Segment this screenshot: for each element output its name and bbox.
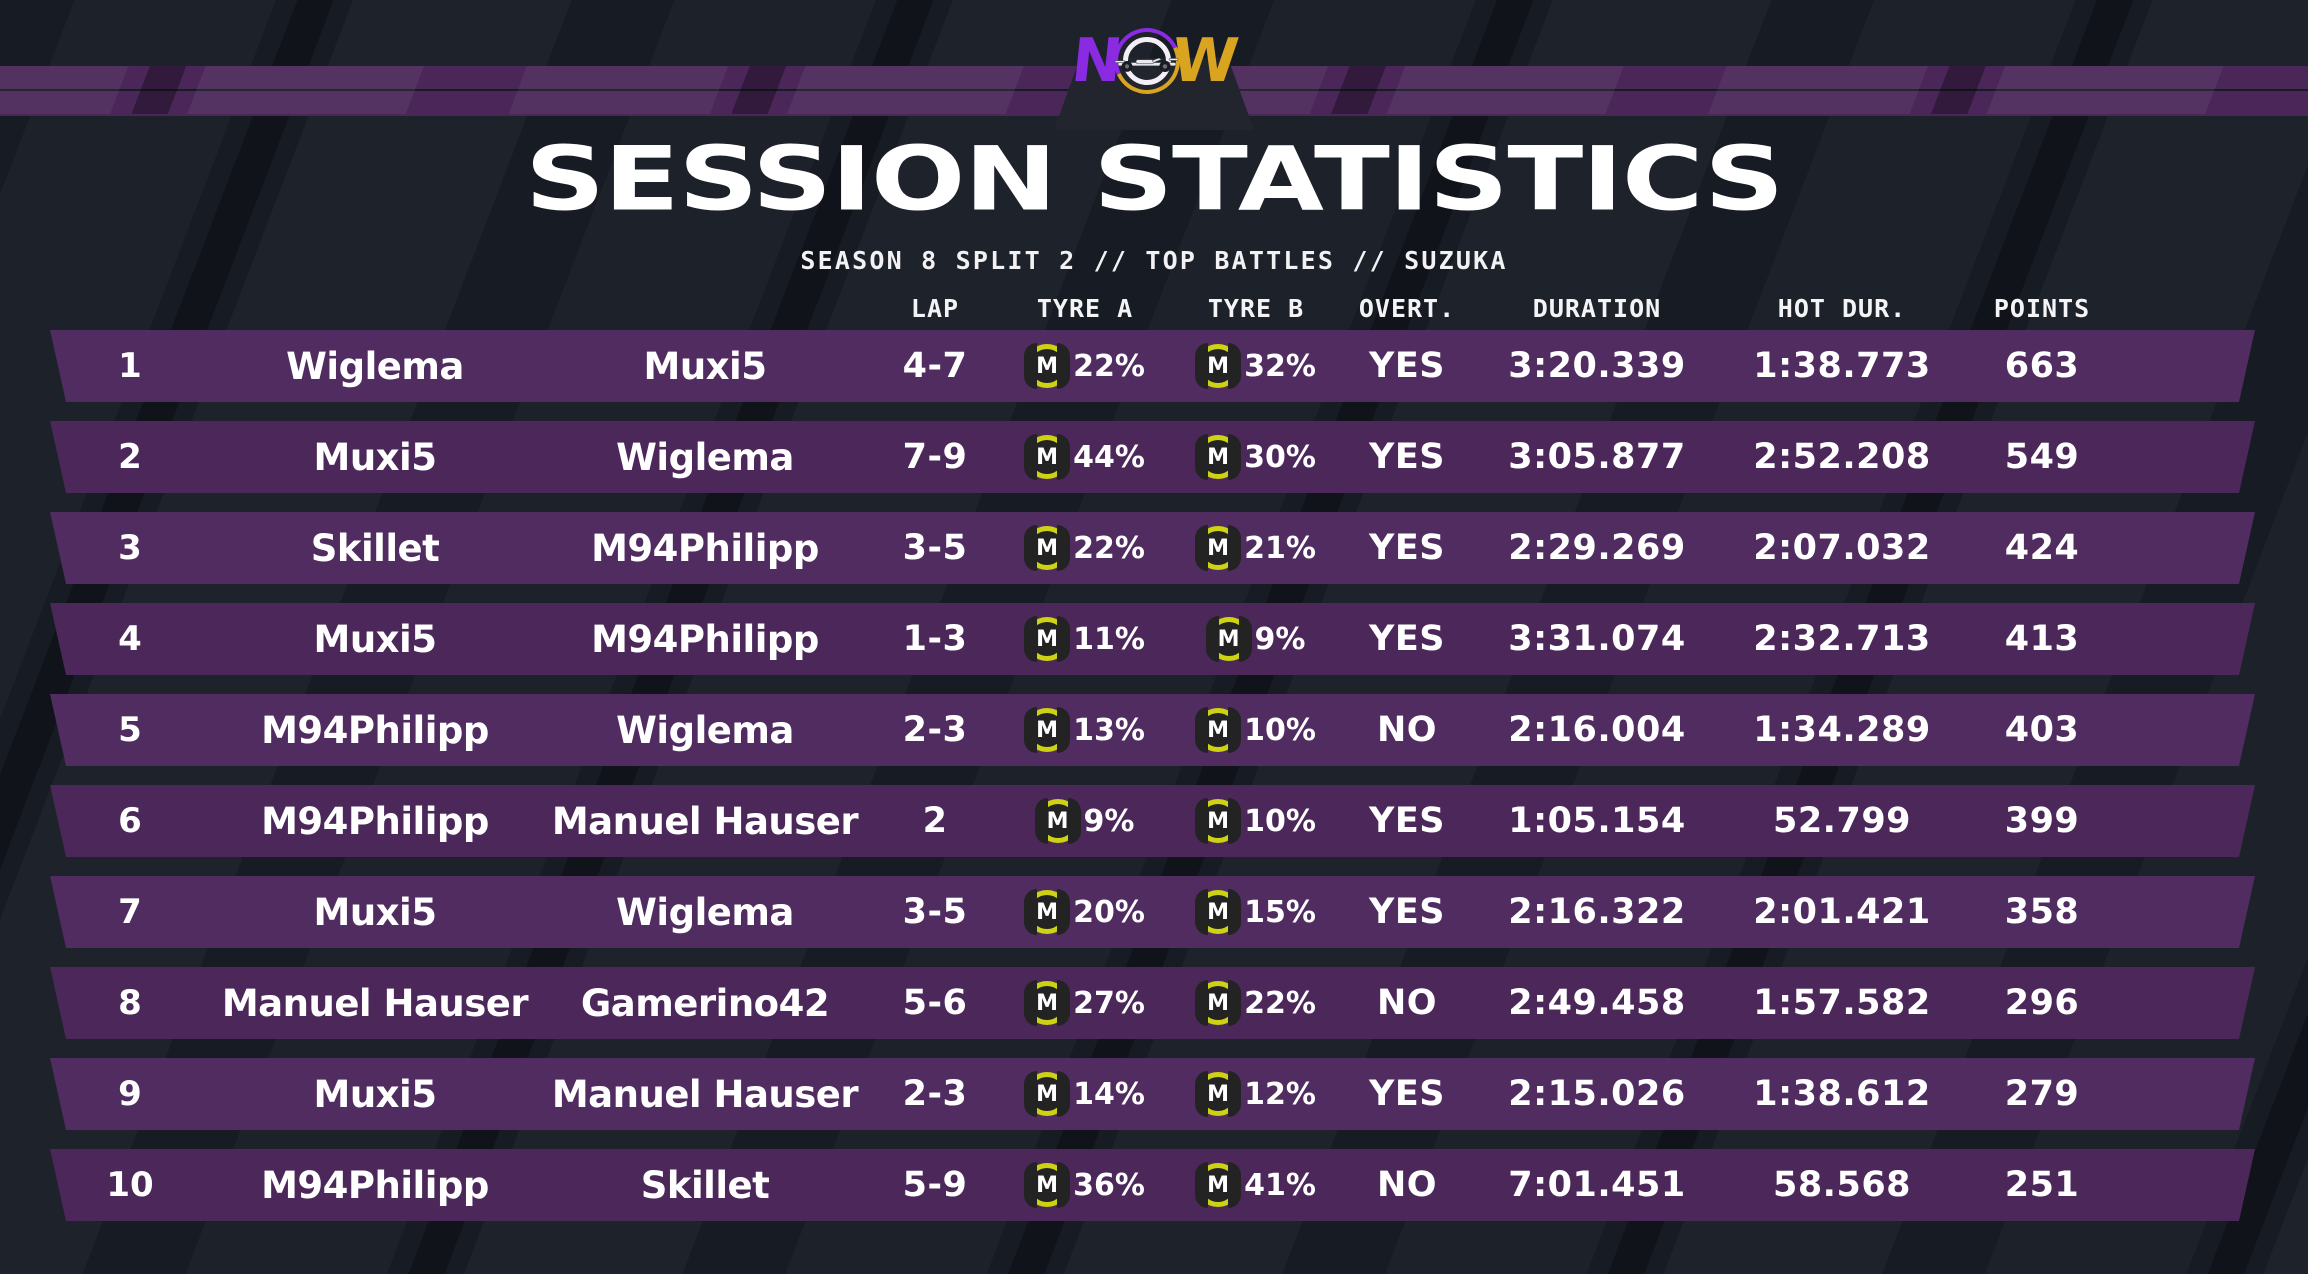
- tyre-compound-icon: M: [1025, 344, 1069, 388]
- tyre-wear-percent: 14%: [1073, 1077, 1145, 1112]
- row-overtake: YES: [1342, 801, 1472, 841]
- row-hot-duration: 1:34.289: [1722, 710, 1962, 750]
- tyre-compound-icon: M: [1025, 617, 1069, 661]
- now-logo: N: [1039, 22, 1269, 100]
- row-rank: 6: [50, 801, 210, 841]
- tyre-compound-icon: M: [1036, 799, 1080, 843]
- row-hot-duration: 2:52.208: [1722, 437, 1962, 477]
- row-overtake: YES: [1342, 892, 1472, 932]
- row-hot-duration: 2:07.032: [1722, 528, 1962, 568]
- row-lap: 3-5: [870, 528, 1000, 568]
- tyre-wear-percent: 20%: [1073, 895, 1145, 930]
- tyre-compound-letter: M: [1025, 1072, 1069, 1116]
- tyre-wear-percent: 10%: [1244, 713, 1316, 748]
- page-subtitle: SEASON 8 SPLIT 2 // TOP BATTLES // SUZUK…: [0, 246, 2308, 275]
- row-tyre-b: M 9%: [1170, 617, 1342, 661]
- table-row[interactable]: 4 Muxi5 M94Philipp 1-3 M 11% M 9% YES 3:…: [50, 603, 2255, 675]
- table-row[interactable]: 8 Manuel Hauser Gamerino42 5-6 M 27% M 2…: [50, 967, 2255, 1039]
- row-rank: 9: [50, 1074, 210, 1114]
- row-tyre-a: M 14%: [1000, 1072, 1170, 1116]
- row-overtake: YES: [1342, 1074, 1472, 1114]
- row-tyre-b: M 10%: [1170, 799, 1342, 843]
- row-lap: 2-3: [870, 1074, 1000, 1114]
- tyre-compound-letter: M: [1025, 1163, 1069, 1207]
- row-driver-b: Muxi5: [540, 345, 870, 388]
- row-driver-b: Wiglema: [540, 891, 870, 934]
- tyre-compound-icon: M: [1196, 344, 1240, 388]
- tyre-wear-percent: 9%: [1084, 804, 1135, 839]
- row-driver-a: Skillet: [210, 527, 540, 570]
- statistics-table: LAP TYRE A TYRE B OVERT. DURATION HOT DU…: [0, 286, 2308, 1240]
- table-column-headers: LAP TYRE A TYRE B OVERT. DURATION HOT DU…: [50, 286, 2255, 330]
- row-rank: 10: [50, 1165, 210, 1205]
- tyre-compound-letter: M: [1025, 981, 1069, 1025]
- tyre-compound-icon: M: [1196, 526, 1240, 570]
- row-driver-a: Manuel Hauser: [210, 982, 540, 1025]
- tyre-compound-icon: M: [1025, 435, 1069, 479]
- row-hot-duration: 1:38.773: [1722, 346, 1962, 386]
- tyre-compound-icon: M: [1025, 981, 1069, 1025]
- row-lap: 7-9: [870, 437, 1000, 477]
- row-duration: 2:15.026: [1472, 1074, 1722, 1114]
- tyre-compound-letter: M: [1196, 344, 1240, 388]
- row-lap: 2-3: [870, 710, 1000, 750]
- row-hot-duration: 58.568: [1722, 1165, 1962, 1205]
- tyre-wear-percent: 22%: [1073, 349, 1145, 384]
- table-row[interactable]: 9 Muxi5 Manuel Hauser 2-3 M 14% M 12% YE…: [50, 1058, 2255, 1130]
- row-points: 251: [1962, 1165, 2122, 1205]
- tyre-compound-letter: M: [1196, 1163, 1240, 1207]
- tyre-wear-percent: 22%: [1244, 986, 1316, 1021]
- row-points: 399: [1962, 801, 2122, 841]
- row-rank: 5: [50, 710, 210, 750]
- row-hot-duration: 52.799: [1722, 801, 1962, 841]
- tyre-wear-percent: 10%: [1244, 804, 1316, 839]
- tyre-wear-percent: 13%: [1073, 713, 1145, 748]
- row-lap: 4-7: [870, 346, 1000, 386]
- row-points: 549: [1962, 437, 2122, 477]
- tyre-compound-letter: M: [1025, 617, 1069, 661]
- table-row[interactable]: 7 Muxi5 Wiglema 3-5 M 20% M 15% YES 2:16…: [50, 876, 2255, 948]
- tyre-compound-icon: M: [1025, 1163, 1069, 1207]
- tyre-compound-icon: M: [1025, 708, 1069, 752]
- row-driver-b: M94Philipp: [540, 527, 870, 570]
- row-overtake: YES: [1342, 346, 1472, 386]
- row-lap: 2: [870, 801, 1000, 841]
- row-overtake: YES: [1342, 619, 1472, 659]
- page-title: SESSION STATISTICS: [0, 128, 2308, 231]
- row-rank: 1: [50, 346, 210, 386]
- tyre-compound-icon: M: [1196, 708, 1240, 752]
- row-tyre-a: M 20%: [1000, 890, 1170, 934]
- row-tyre-b: M 15%: [1170, 890, 1342, 934]
- row-rank: 4: [50, 619, 210, 659]
- row-points: 358: [1962, 892, 2122, 932]
- row-driver-b: Gamerino42: [540, 982, 870, 1025]
- column-header-tyre-a: TYRE A: [1000, 294, 1170, 323]
- tyre-compound-icon: M: [1196, 981, 1240, 1025]
- row-tyre-a: M 22%: [1000, 526, 1170, 570]
- tyre-compound-letter: M: [1025, 435, 1069, 479]
- row-points: 424: [1962, 528, 2122, 568]
- tyre-compound-letter: M: [1196, 799, 1240, 843]
- row-tyre-b: M 10%: [1170, 708, 1342, 752]
- tyre-wear-percent: 9%: [1255, 622, 1306, 657]
- row-overtake: NO: [1342, 1165, 1472, 1205]
- tyre-wear-percent: 15%: [1244, 895, 1316, 930]
- row-duration: 2:16.004: [1472, 710, 1722, 750]
- row-duration: 1:05.154: [1472, 801, 1722, 841]
- row-overtake: NO: [1342, 710, 1472, 750]
- table-row[interactable]: 5 M94Philipp Wiglema 2-3 M 13% M 10% NO …: [50, 694, 2255, 766]
- row-tyre-b: M 12%: [1170, 1072, 1342, 1116]
- row-overtake: NO: [1342, 983, 1472, 1023]
- row-lap: 5-9: [870, 1165, 1000, 1205]
- tyre-wear-percent: 41%: [1244, 1168, 1316, 1203]
- tyre-compound-letter: M: [1196, 981, 1240, 1025]
- table-row[interactable]: 1 Wiglema Muxi5 4-7 M 22% M 32% YES 3:20…: [50, 330, 2255, 402]
- row-driver-b: Skillet: [540, 1164, 870, 1207]
- row-hot-duration: 2:32.713: [1722, 619, 1962, 659]
- row-tyre-b: M 22%: [1170, 981, 1342, 1025]
- row-duration: 3:20.339: [1472, 346, 1722, 386]
- row-duration: 3:05.877: [1472, 437, 1722, 477]
- tyre-compound-letter: M: [1025, 344, 1069, 388]
- tyre-compound-letter: M: [1025, 526, 1069, 570]
- row-points: 663: [1962, 346, 2122, 386]
- row-hot-duration: 1:38.612: [1722, 1074, 1962, 1114]
- row-hot-duration: 2:01.421: [1722, 892, 1962, 932]
- row-tyre-a: M 11%: [1000, 617, 1170, 661]
- tyre-compound-icon: M: [1196, 1163, 1240, 1207]
- tyre-compound-letter: M: [1025, 708, 1069, 752]
- row-points: 413: [1962, 619, 2122, 659]
- tyre-wear-percent: 11%: [1073, 622, 1145, 657]
- row-driver-b: Manuel Hauser: [540, 800, 870, 843]
- row-duration: 2:29.269: [1472, 528, 1722, 568]
- tyre-compound-letter: M: [1196, 708, 1240, 752]
- row-tyre-a: M 22%: [1000, 344, 1170, 388]
- row-tyre-a: M 44%: [1000, 435, 1170, 479]
- tyre-wear-percent: 12%: [1244, 1077, 1316, 1112]
- logo-letter-w: W: [1169, 31, 1239, 91]
- row-hot-duration: 1:57.582: [1722, 983, 1962, 1023]
- row-tyre-b: M 32%: [1170, 344, 1342, 388]
- row-driver-a: M94Philipp: [210, 800, 540, 843]
- column-header-duration: DURATION: [1472, 294, 1722, 323]
- tyre-compound-icon: M: [1025, 1072, 1069, 1116]
- row-driver-a: M94Philipp: [210, 709, 540, 752]
- row-tyre-b: M 21%: [1170, 526, 1342, 570]
- column-header-points: POINTS: [1962, 294, 2122, 323]
- row-driver-b: M94Philipp: [540, 618, 870, 661]
- row-driver-a: Wiglema: [210, 345, 540, 388]
- row-points: 403: [1962, 710, 2122, 750]
- row-driver-a: Muxi5: [210, 618, 540, 661]
- row-driver-b: Wiglema: [540, 709, 870, 752]
- tyre-compound-icon: M: [1196, 1072, 1240, 1116]
- row-driver-a: Muxi5: [210, 891, 540, 934]
- row-tyre-a: M 36%: [1000, 1163, 1170, 1207]
- session-statistics-graphic: N: [0, 0, 2308, 1274]
- row-driver-b: Manuel Hauser: [540, 1073, 870, 1116]
- row-duration: 7:01.451: [1472, 1165, 1722, 1205]
- tyre-compound-letter: M: [1207, 617, 1251, 661]
- row-duration: 3:31.074: [1472, 619, 1722, 659]
- row-tyre-b: M 30%: [1170, 435, 1342, 479]
- row-lap: 3-5: [870, 892, 1000, 932]
- column-header-hot-duration: HOT DUR.: [1722, 294, 1962, 323]
- row-rank: 2: [50, 437, 210, 477]
- row-driver-a: Muxi5: [210, 1073, 540, 1116]
- tyre-wear-percent: 36%: [1073, 1168, 1145, 1203]
- tyre-compound-icon: M: [1207, 617, 1251, 661]
- row-driver-b: Wiglema: [540, 436, 870, 479]
- row-rank: 7: [50, 892, 210, 932]
- tyre-compound-icon: M: [1196, 435, 1240, 479]
- table-row[interactable]: 2 Muxi5 Wiglema 7-9 M 44% M 30% YES 3:05…: [50, 421, 2255, 493]
- row-tyre-a: M 9%: [1000, 799, 1170, 843]
- row-points: 279: [1962, 1074, 2122, 1114]
- tyre-compound-letter: M: [1036, 799, 1080, 843]
- tyre-compound-icon: M: [1025, 526, 1069, 570]
- tyre-wear-percent: 32%: [1244, 349, 1316, 384]
- tyre-wear-percent: 22%: [1073, 531, 1145, 566]
- row-points: 296: [1962, 983, 2122, 1023]
- row-lap: 1-3: [870, 619, 1000, 659]
- row-driver-a: M94Philipp: [210, 1164, 540, 1207]
- tyre-wear-percent: 27%: [1073, 986, 1145, 1021]
- row-driver-a: Muxi5: [210, 436, 540, 479]
- tyre-wear-percent: 44%: [1073, 440, 1145, 475]
- tyre-compound-letter: M: [1196, 435, 1240, 479]
- table-row[interactable]: 10 M94Philipp Skillet 5-9 M 36% M 41% NO…: [50, 1149, 2255, 1221]
- row-duration: 2:49.458: [1472, 983, 1722, 1023]
- row-tyre-a: M 13%: [1000, 708, 1170, 752]
- table-row[interactable]: 6 M94Philipp Manuel Hauser 2 M 9% M 10% …: [50, 785, 2255, 857]
- row-tyre-b: M 41%: [1170, 1163, 1342, 1207]
- tyre-compound-letter: M: [1196, 526, 1240, 570]
- tyre-wear-percent: 30%: [1244, 440, 1316, 475]
- tyre-compound-letter: M: [1196, 1072, 1240, 1116]
- tyre-compound-letter: M: [1025, 890, 1069, 934]
- row-overtake: YES: [1342, 437, 1472, 477]
- tyre-wear-percent: 21%: [1244, 531, 1316, 566]
- table-rows: 1 Wiglema Muxi5 4-7 M 22% M 32% YES 3:20…: [0, 330, 2308, 1221]
- tyre-compound-icon: M: [1025, 890, 1069, 934]
- row-rank: 3: [50, 528, 210, 568]
- column-header-lap: LAP: [870, 294, 1000, 323]
- tyre-compound-icon: M: [1196, 890, 1240, 934]
- column-header-overtake: OVERT.: [1342, 294, 1472, 323]
- column-header-tyre-b: TYRE B: [1170, 294, 1342, 323]
- row-overtake: YES: [1342, 528, 1472, 568]
- table-row[interactable]: 3 Skillet M94Philipp 3-5 M 22% M 21% YES…: [50, 512, 2255, 584]
- row-lap: 5-6: [870, 983, 1000, 1023]
- row-tyre-a: M 27%: [1000, 981, 1170, 1025]
- row-rank: 8: [50, 983, 210, 1023]
- tyre-compound-icon: M: [1196, 799, 1240, 843]
- tyre-compound-letter: M: [1196, 890, 1240, 934]
- row-duration: 2:16.322: [1472, 892, 1722, 932]
